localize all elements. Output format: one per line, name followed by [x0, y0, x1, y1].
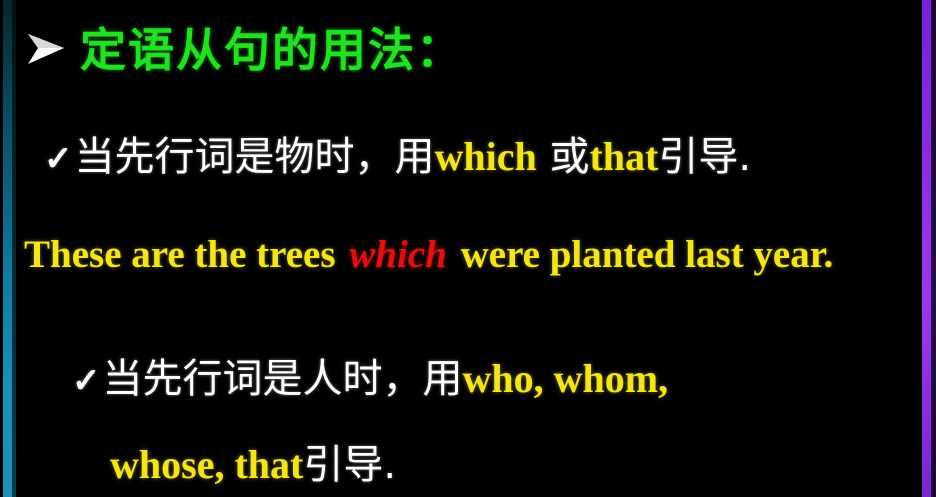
slide-canvas: 定语从句的用法： ✓当先行词是物时，用which 或that引导. These …	[0, 0, 936, 497]
arrow-bullet-icon	[22, 22, 68, 72]
bullet-clause-person: ✓当先行词是人时，用who, whom,	[72, 346, 668, 404]
slide-title-row: 定语从句的用法：	[22, 14, 464, 80]
bullet-1-cn-between: 或	[537, 134, 590, 180]
bullet-clause-thing: ✓当先行词是物时，用which 或that引导.	[44, 124, 751, 182]
bullet-2-cn-mid: 用	[423, 356, 463, 402]
keyword-that: that	[589, 134, 658, 179]
bullet-clause-person-continued: whose, that引导.	[110, 432, 396, 490]
bullet-2-cn-lead: 当先行词是人时，	[103, 356, 423, 402]
left-edge-stripe-inner	[12, 0, 16, 497]
check-icon-2: ✓	[72, 363, 101, 400]
right-edge-stripe-outer	[931, 0, 936, 497]
keyword-which: which	[435, 134, 537, 179]
bullet-1-cn-tail: 引导.	[658, 134, 751, 180]
keyword-who-whom: who, whom,	[463, 356, 669, 401]
example-part-2: were planted last year.	[451, 233, 833, 276]
example-sentence: These are the trees which were planted l…	[24, 232, 833, 277]
bullet-1-cn-lead: 当先行词是物时，	[75, 134, 395, 180]
example-relative-pronoun: which	[345, 233, 451, 276]
bullet-2-cn-tail: 引导.	[303, 442, 396, 488]
bullet-1-cn-mid: 用	[395, 134, 435, 180]
keyword-whose-that: whose, that	[110, 442, 303, 487]
example-part-1: These are the trees	[24, 233, 345, 276]
page-title: 定语从句的用法：	[80, 14, 464, 80]
check-icon-1: ✓	[44, 141, 73, 178]
right-edge-stripe	[922, 0, 931, 497]
